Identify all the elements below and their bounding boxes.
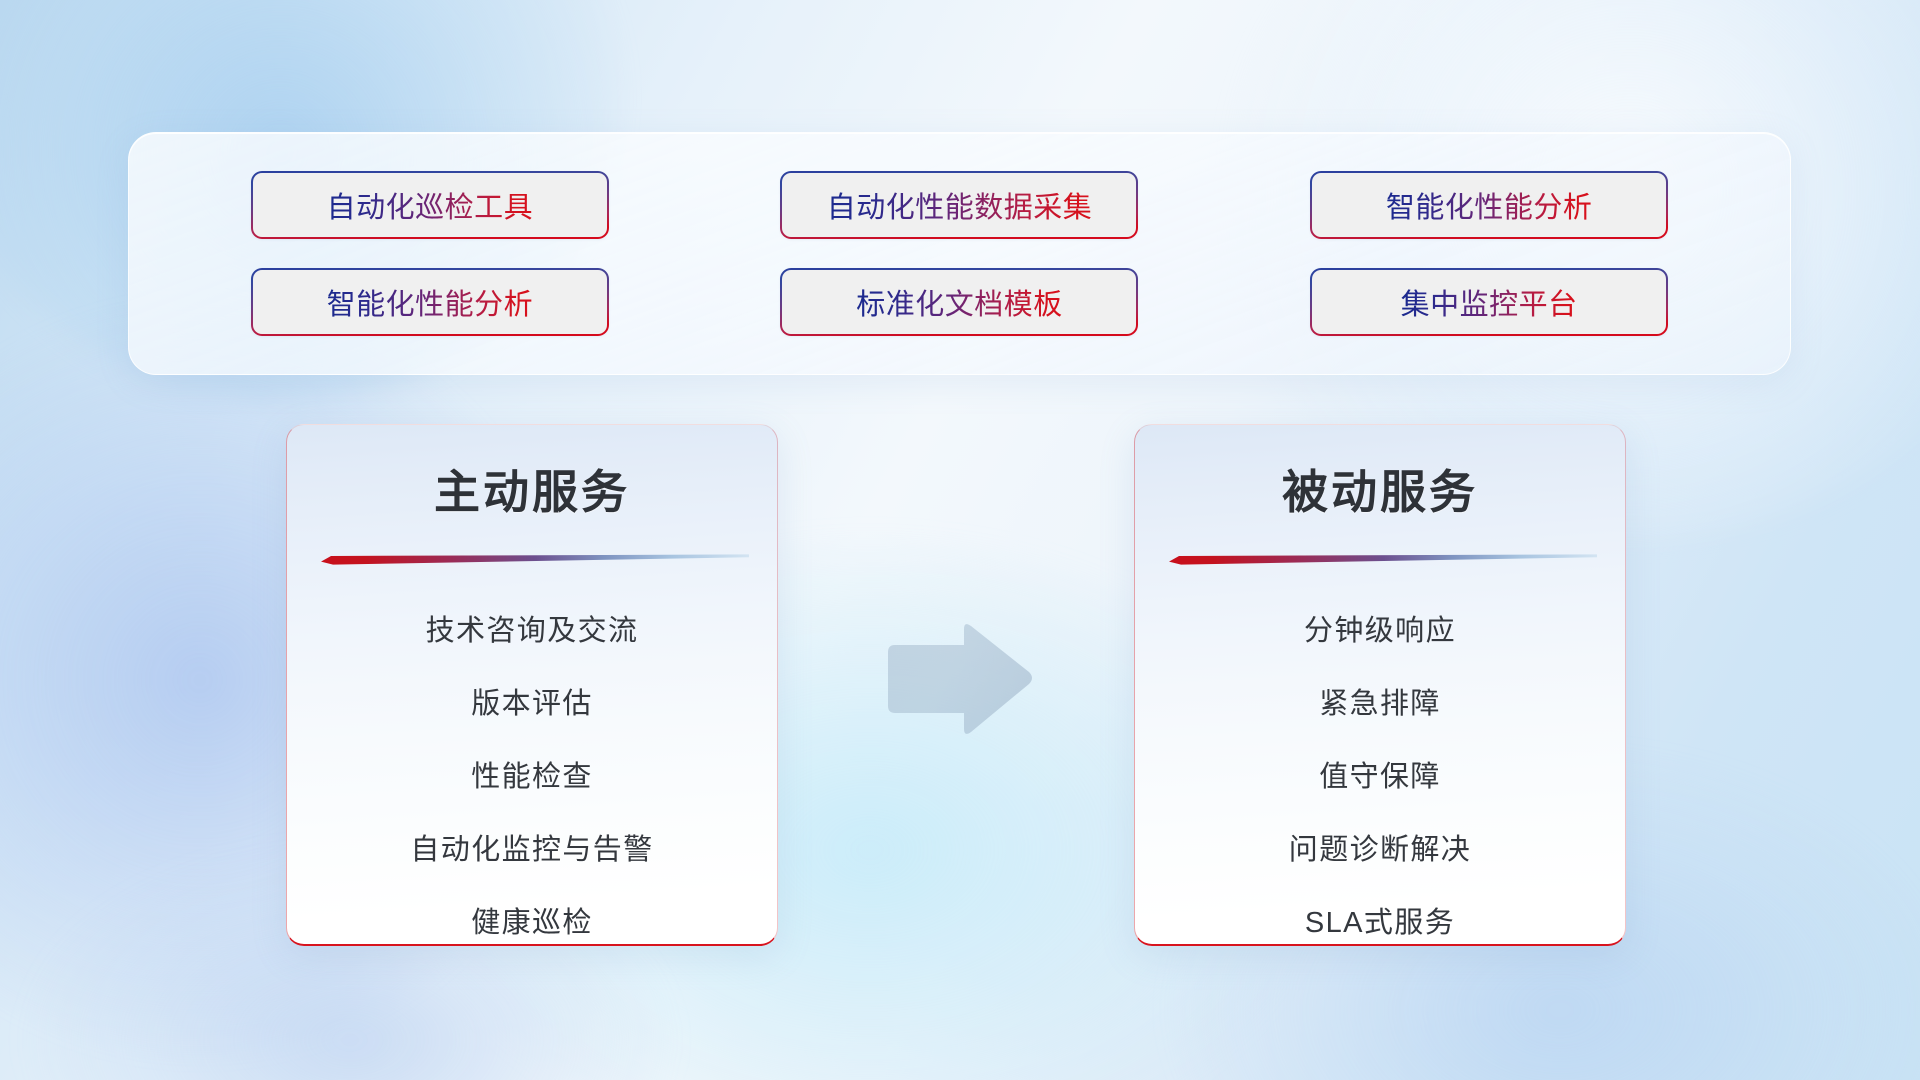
flow-arrow: [878, 620, 1036, 740]
service-item: 问题诊断解决: [1289, 814, 1471, 887]
divider-gradient-shape: [321, 554, 749, 565]
service-item: SLA式服务: [1305, 887, 1455, 946]
service-card-divider: [321, 554, 749, 565]
service-item: 版本评估: [471, 668, 593, 741]
service-item: 分钟级响应: [1304, 595, 1456, 668]
arrow-right-icon: [878, 620, 1036, 740]
service-card-reactive[interactable]: 被动服务 分钟级响应 紧急排障: [1134, 424, 1626, 946]
service-item: 自动化监控与告警: [410, 814, 653, 887]
service-card-proactive[interactable]: 主动服务 技术咨询及交流 版本评估: [286, 424, 778, 946]
service-card-divider: [1169, 554, 1597, 565]
service-item: 技术咨询及交流: [426, 595, 639, 668]
divider-gradient-shape: [1169, 554, 1597, 565]
service-card-title: 主动服务: [287, 456, 777, 522]
service-cards-area: 主动服务 技术咨询及交流 版本评估: [0, 0, 1920, 1080]
service-item: 紧急排障: [1319, 668, 1441, 741]
service-item: 值守保障: [1319, 741, 1441, 814]
service-card-item-list: 分钟级响应 紧急排障 值守保障 问题诊断解决 SLA式服务: [1135, 595, 1625, 946]
service-card-item-list: 技术咨询及交流 版本评估 性能检查 自动化监控与告警 健康巡检: [287, 595, 777, 946]
service-item: 健康巡检: [471, 887, 593, 946]
service-card-title: 被动服务: [1135, 456, 1625, 522]
service-item: 性能检查: [471, 741, 593, 814]
